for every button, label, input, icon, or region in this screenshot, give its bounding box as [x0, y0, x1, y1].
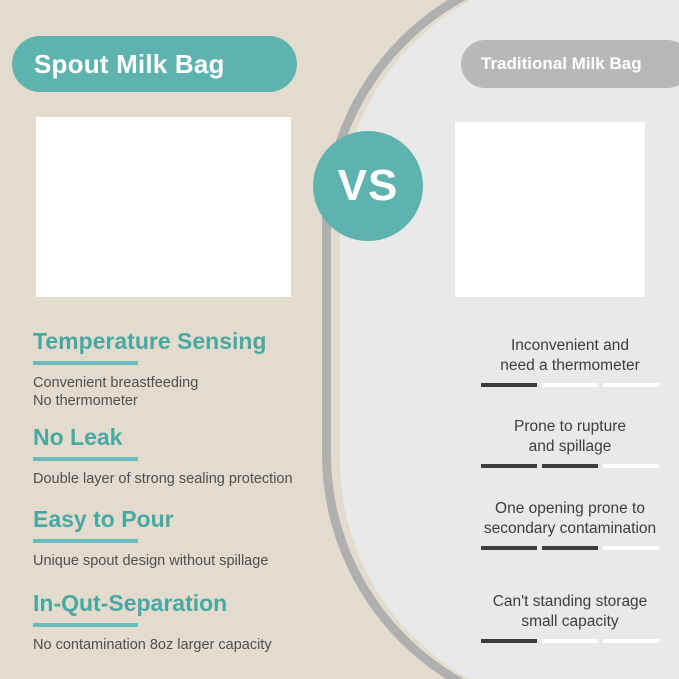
feature-description: No contamination 8oz larger capacity: [33, 636, 363, 654]
drawback-rating-bars: [420, 464, 679, 468]
feature-item-in-out-separation: In-Qut-Separation No contamination 8oz l…: [33, 590, 363, 654]
rating-bar-1: [481, 546, 537, 550]
feature-underline: [33, 457, 138, 461]
feature-description: Double layer of strong sealing protectio…: [33, 470, 363, 488]
comparison-infographic: Spout Milk Bag Traditional Milk Bag VS C…: [0, 0, 679, 679]
feature-description: Unique spout design without spillage: [33, 552, 363, 570]
left-title-label: Spout Milk Bag: [34, 49, 225, 80]
drawback-item-thermometer: Inconvenient and need a thermometer: [420, 336, 679, 387]
rating-bar-1: [481, 639, 537, 643]
rating-bar-3: [603, 546, 659, 550]
left-title-pill: Spout Milk Bag: [12, 36, 297, 92]
rating-bar-3: [603, 639, 659, 643]
rating-bar-1: [481, 464, 537, 468]
feature-item-no-leak: No Leak Double layer of strong sealing p…: [33, 424, 363, 488]
right-title-label: Traditional Milk Bag: [481, 54, 642, 74]
vs-badge: VS: [313, 131, 423, 241]
right-title-pill: Traditional Milk Bag: [461, 40, 679, 88]
drawback-text: One opening prone to secondary contamina…: [420, 499, 679, 539]
rating-bar-2: [542, 546, 598, 550]
drawback-text: Can't standing storage small capacity: [420, 592, 679, 632]
vs-label: VS: [338, 161, 399, 211]
rating-bar-2: [542, 464, 598, 468]
rating-bar-3: [603, 383, 659, 387]
feature-underline: [33, 361, 138, 365]
drawback-rating-bars: [420, 546, 679, 550]
feature-title: Easy to Pour: [33, 506, 363, 533]
feature-title: No Leak: [33, 424, 363, 451]
feature-title: Temperature Sensing: [33, 328, 363, 355]
drawback-rating-bars: [420, 639, 679, 643]
rating-bar-3: [603, 464, 659, 468]
feature-underline: [33, 539, 138, 543]
rating-bar-2: [542, 639, 598, 643]
rating-bar-1: [481, 383, 537, 387]
left-product-image: [36, 117, 291, 297]
feature-title: In-Qut-Separation: [33, 590, 363, 617]
drawback-item-capacity: Can't standing storage small capacity: [420, 592, 679, 643]
drawback-rating-bars: [420, 383, 679, 387]
drawback-text: Inconvenient and need a thermometer: [420, 336, 679, 376]
drawback-text: Prone to rupture and spillage: [420, 417, 679, 457]
drawback-item-rupture: Prone to rupture and spillage: [420, 417, 679, 468]
feature-underline: [33, 623, 138, 627]
feature-item-temperature-sensing: Temperature Sensing Convenient breastfee…: [33, 328, 363, 410]
right-product-image: [455, 122, 645, 297]
feature-item-easy-to-pour: Easy to Pour Unique spout design without…: [33, 506, 363, 570]
rating-bar-2: [542, 383, 598, 387]
drawback-item-contamination: One opening prone to secondary contamina…: [420, 499, 679, 550]
feature-description: Convenient breastfeeding No thermometer: [33, 374, 363, 410]
